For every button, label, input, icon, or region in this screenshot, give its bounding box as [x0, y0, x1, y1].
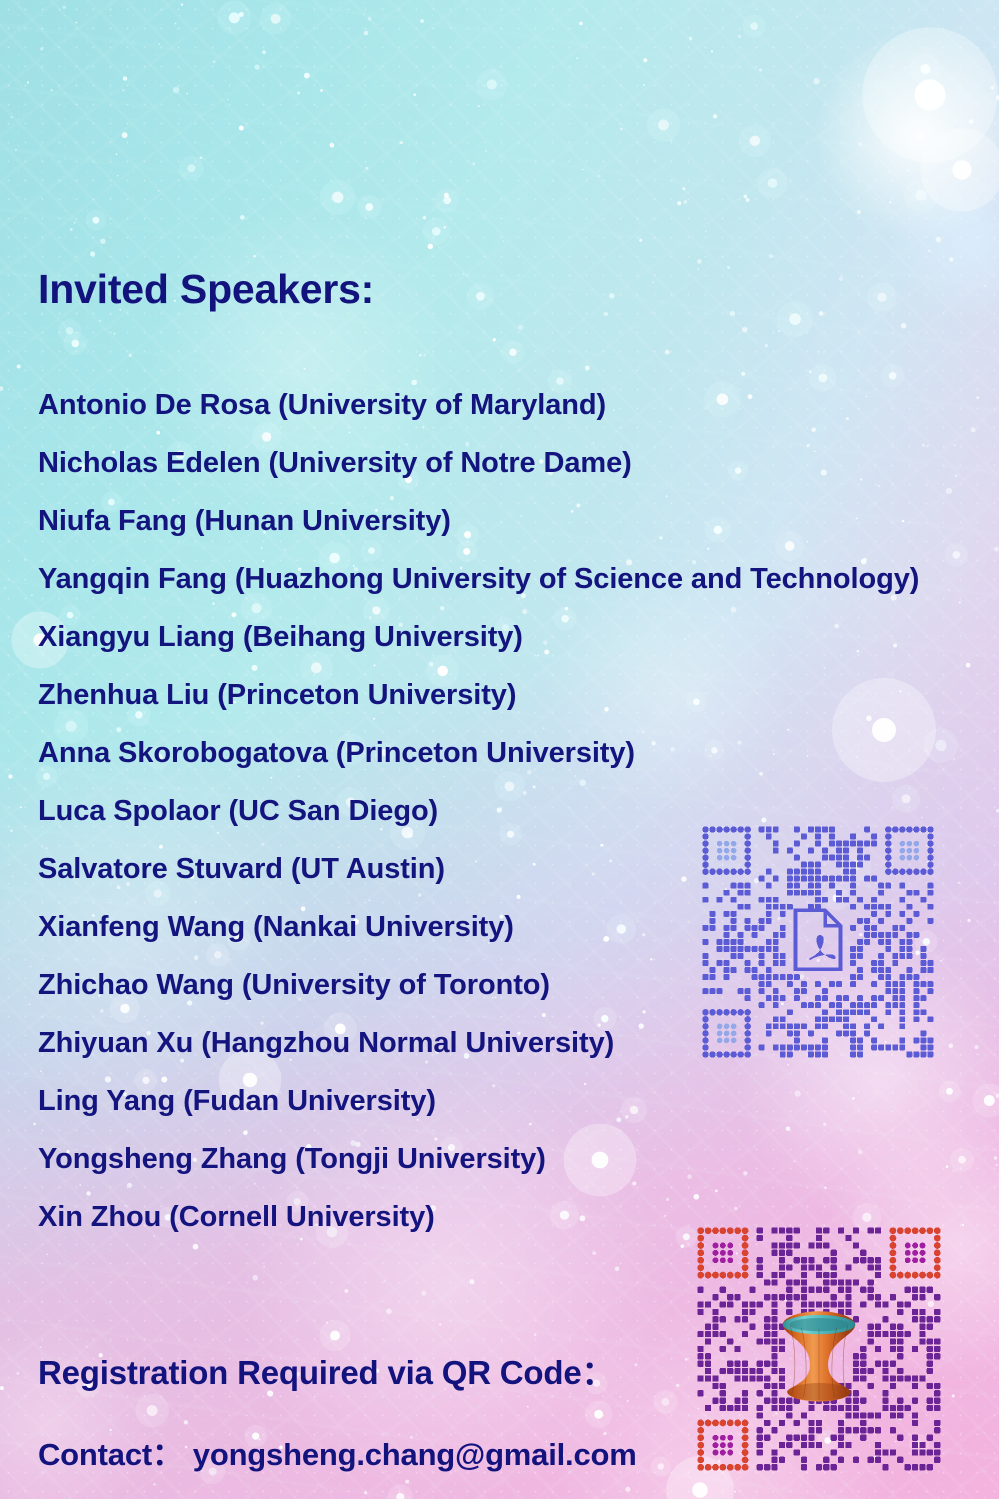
speaker-row: Zhenhua Liu (Princeton University) [38, 666, 988, 724]
title-line-2-row: and Related Topics June 11 to 13, 2021 [0, 74, 930, 148]
speaker-row: Anna Skorobogatova (Princeton University… [38, 724, 988, 782]
qr-code-registration[interactable] [694, 1227, 944, 1471]
title-line-2: and Related Topics [0, 74, 518, 148]
speaker-row: Yongsheng Zhang (Tongji University) [38, 1130, 988, 1188]
conference-poster: Workshop on Minimal Surfaces and Related… [0, 0, 999, 1499]
qr-code-registration-graphic [694, 1227, 944, 1471]
registration-note: Registration Required via QR Code： [38, 1346, 614, 1394]
invited-speakers-heading: Invited Speakers: [38, 266, 374, 313]
speaker-row: Xiangyu Liang (Beihang University) [38, 608, 988, 666]
contact-line: Contact：yongsheng.chang@gmail.com [38, 1429, 637, 1474]
speaker-row: Yangqin Fang (Huazhong University of Sci… [38, 550, 988, 608]
contact-label: Contact： [38, 1437, 183, 1472]
speaker-row: Niufa Fang (Hunan University) [38, 492, 988, 550]
speaker-row: Ling Yang (Fudan University) [38, 1072, 988, 1130]
title-line-1: Workshop on Minimal Surfaces [0, 0, 930, 74]
invited-speakers-list: Antonio De Rosa (University of Maryland)… [38, 376, 988, 1246]
poster-title-block: Workshop on Minimal Surfaces and Related… [0, 0, 930, 148]
event-date: June 11 to 13, 2021 [548, 97, 887, 140]
qr-code-program-graphic [694, 826, 942, 1058]
speaker-row: Antonio De Rosa (University of Maryland) [38, 376, 988, 434]
qr-code-program[interactable] [694, 826, 942, 1058]
contact-email[interactable]: yongsheng.chang@gmail.com [193, 1437, 637, 1472]
catenoid-minimal-surface-icon [783, 1311, 855, 1401]
pdf-document-icon [796, 910, 841, 969]
speaker-row: Nicholas Edelen (University of Notre Dam… [38, 434, 988, 492]
